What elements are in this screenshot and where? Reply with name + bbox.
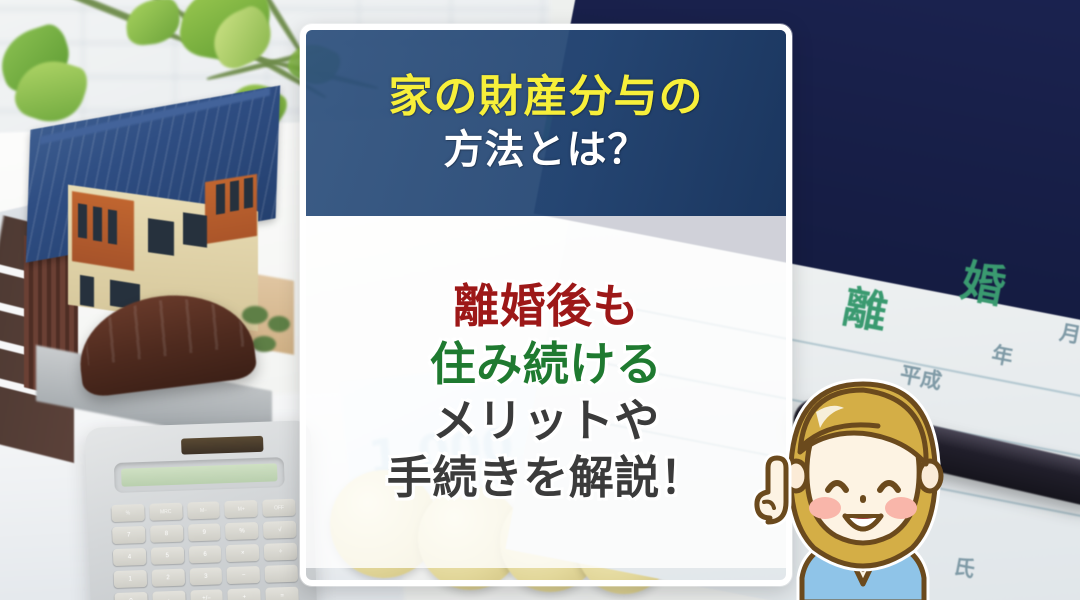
card-header-banner: 家の財産分与の 方法とは？ [306,30,786,216]
calc-key: ÷ [264,543,297,561]
calc-key: · [152,591,185,600]
solar-panel [181,436,264,455]
architectural-house-model [0,100,310,430]
calc-key: OFF [262,499,295,517]
calc-key: √ [263,521,296,539]
calc-key: M+ [225,500,258,518]
body-line-3: メリットや [432,394,660,449]
calc-key: 6 [188,545,221,563]
thumbnail-canvas: 1,000 離 婚 平成 年 月 氏 [0,0,1080,600]
calc-key: 3 [189,567,222,585]
calculator-display [121,463,278,486]
calculator-display-bezel [114,457,285,493]
calc-key [265,565,298,583]
mascot-character [744,372,974,600]
calc-key: 7 [112,526,145,544]
calc-key: MRC [149,503,182,521]
calc-key: 0 [114,592,147,600]
pointing-hand-icon [757,458,786,522]
calc-key: + [228,588,261,600]
calc-key: % [111,504,144,522]
calc-key: 1 [114,570,147,588]
card-body: 離婚後も 住み続ける メリットや 手続きを解説！ [306,216,786,568]
calc-key: 8 [150,525,183,543]
calc-key: M− [187,501,220,519]
headline-line-1: 家の財産分与の [389,71,704,123]
calc-key: % [225,522,258,540]
calc-key: 5 [151,547,184,565]
calculator-keypad: % MRC M− M+ OFF 7 8 9 % √ 4 5 6 × ÷ 1 2 … [111,499,299,600]
calc-key: × [226,544,259,562]
calc-key: +/− [190,589,223,600]
body-line-1: 離婚後も [453,278,639,334]
calc-key: 2 [151,569,184,587]
body-line-4: 手続きを解説！ [387,451,706,506]
calc-key: 4 [113,548,146,566]
calc-key: − [227,566,260,584]
content-card: 家の財産分与の 方法とは？ 離婚後も 住み続ける メリットや 手続きを解説！ [300,24,792,586]
body-line-2: 住み続ける [430,336,663,392]
calc-key: 9 [188,523,221,541]
desk-calculator: % MRC M− M+ OFF 7 8 9 % √ 4 5 6 × ÷ 1 2 … [85,420,318,600]
calc-key: = [265,587,298,600]
headline-line-2: 方法とは？ [444,127,649,174]
